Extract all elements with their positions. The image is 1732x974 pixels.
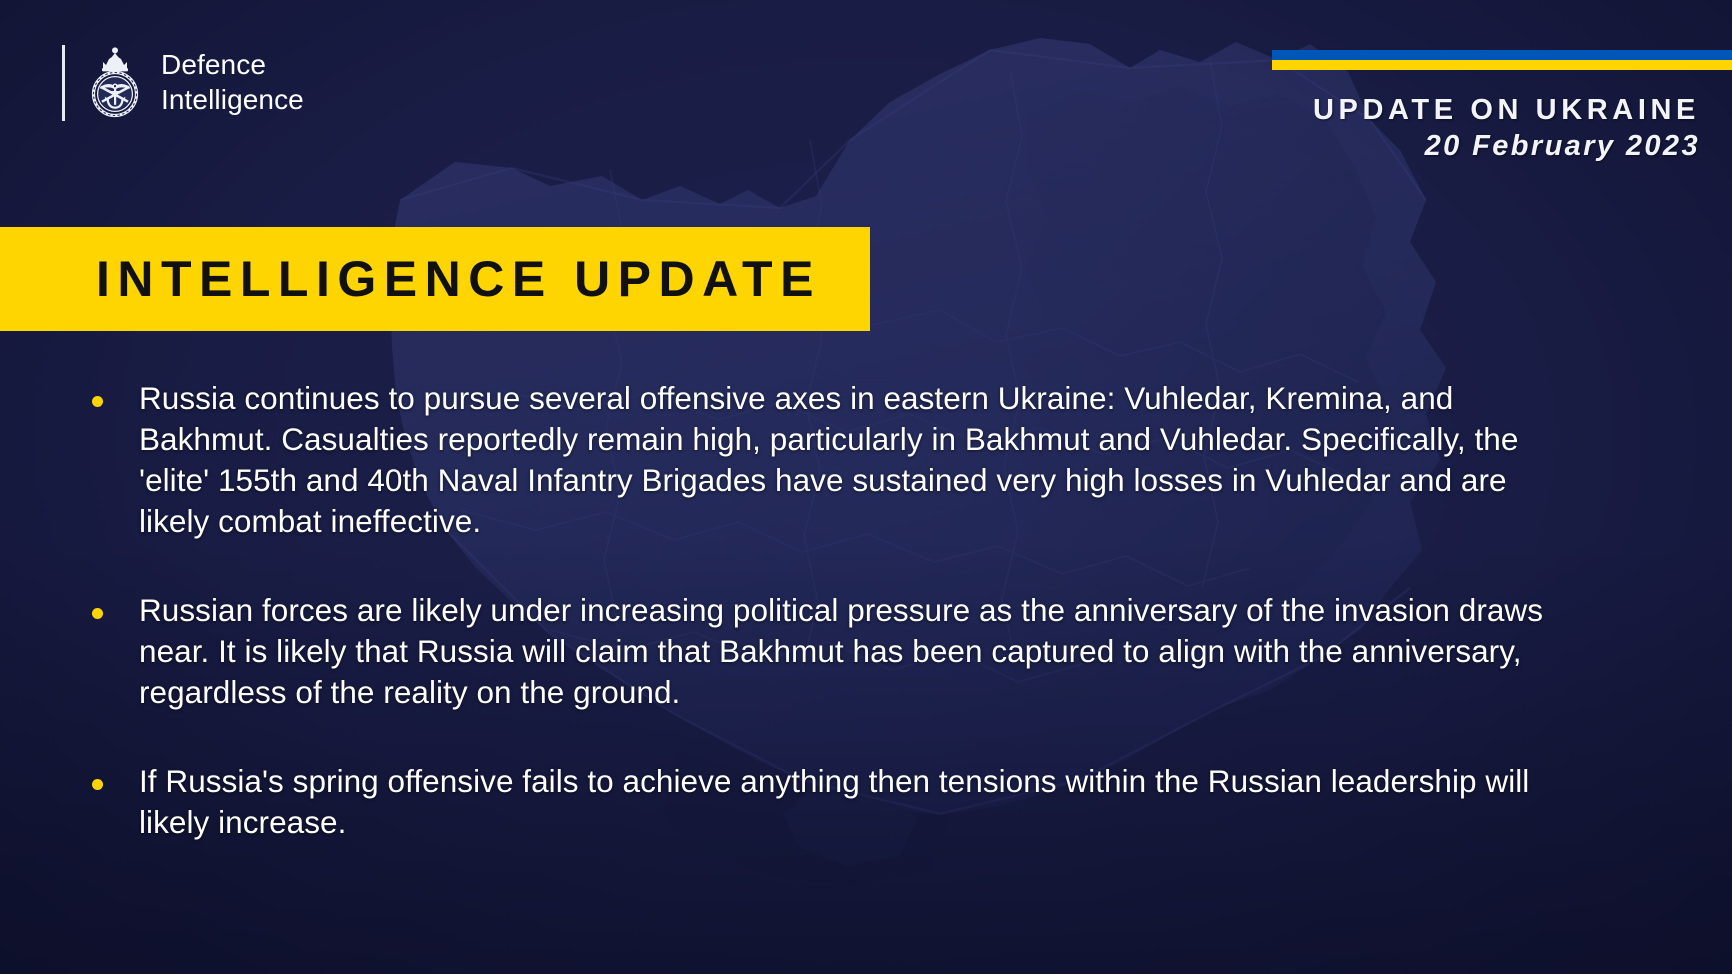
banner-title: INTELLIGENCE UPDATE: [96, 254, 821, 304]
flag-band-blue: [1272, 50, 1732, 60]
update-date: 20 February 2023: [1272, 131, 1732, 161]
mod-defence-crest-icon: [85, 46, 145, 120]
bullet-dot-icon: [92, 779, 103, 790]
flag-band-yellow: [1272, 60, 1732, 70]
intelligence-update-banner: INTELLIGENCE UPDATE: [0, 227, 870, 331]
brand-line-1: Defence: [161, 48, 304, 83]
bullet-text: Russia continues to pursue several offen…: [139, 378, 1564, 542]
brand-line-2: Intelligence: [161, 83, 304, 118]
list-item: If Russia's spring offensive fails to ac…: [92, 761, 1652, 843]
bullet-text: Russian forces are likely under increasi…: [139, 590, 1564, 713]
header-right-block: UPDATE ON UKRAINE 20 February 2023: [1272, 50, 1732, 161]
update-title: UPDATE ON UKRAINE: [1272, 96, 1732, 125]
logo-divider-rule: [62, 45, 65, 121]
bullet-text: If Russia's spring offensive fails to ac…: [139, 761, 1564, 843]
list-item: Russia continues to pursue several offen…: [92, 378, 1652, 542]
bullet-dot-icon: [92, 396, 103, 407]
ukraine-flag-bar-icon: [1272, 50, 1732, 70]
brand-wordmark: Defence Intelligence: [161, 48, 304, 117]
defence-intelligence-logo: Defence Intelligence: [62, 40, 304, 126]
intelligence-update-slide: Defence Intelligence UPDATE ON UKRAINE 2…: [0, 0, 1732, 974]
bullet-dot-icon: [92, 608, 103, 619]
bullet-list: Russia continues to pursue several offen…: [92, 378, 1652, 842]
list-item: Russian forces are likely under increasi…: [92, 590, 1652, 713]
